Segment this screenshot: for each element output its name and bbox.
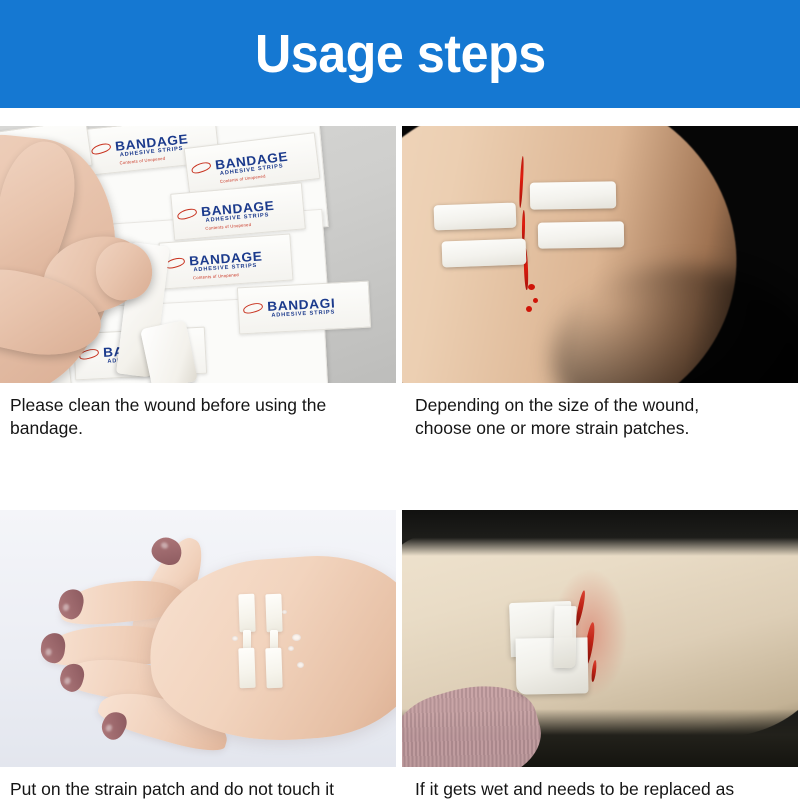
strain-patch-upper-right xyxy=(530,181,616,209)
water-droplet xyxy=(232,636,238,641)
blood-drop xyxy=(533,298,538,303)
step-1-photo: BANDAGE ADHESIVE STRIPS Contents of Unop… xyxy=(0,126,396,383)
bandage-strip: BANDAGE ADHESIVE STRIPS Contents of Unop… xyxy=(159,233,294,289)
strain-patch-top-left xyxy=(238,593,255,632)
water-droplet xyxy=(292,634,301,641)
page-title: Usage steps xyxy=(255,27,546,81)
package-mark-icon xyxy=(90,137,114,161)
strain-patch-upper xyxy=(434,203,517,231)
package-fine-print: Contents of Unopened xyxy=(193,272,239,280)
step-4-caption: If it gets wet and needs to be replaced … xyxy=(402,778,800,800)
strain-patch-bridge-right xyxy=(270,630,278,650)
step-4-photo xyxy=(402,510,798,767)
blood-drop xyxy=(526,306,532,312)
package-mark-icon xyxy=(242,297,265,320)
steps-grid: BANDAGE ADHESIVE STRIPS Contents of Unop… xyxy=(0,126,800,800)
steps-row-2: Put on the strain patch and do not touch… xyxy=(0,510,800,800)
strain-patch-top-right xyxy=(265,593,282,632)
strain-patch-lower-right xyxy=(538,221,624,248)
strain-patch-lower xyxy=(442,239,527,268)
step-card-2: Depending on the size of the wound, choo… xyxy=(402,126,800,441)
step-2-caption: Depending on the size of the wound, choo… xyxy=(402,394,800,441)
strain-patch-bottom-left xyxy=(238,647,255,688)
strain-patch-fold xyxy=(516,637,589,694)
package-mark-icon xyxy=(190,156,215,181)
step-3-photo xyxy=(0,510,396,767)
bandage-strip: BANDAGI ADHESIVE STRIPS xyxy=(237,281,371,335)
step-1-caption: Please clean the wound before using the … xyxy=(0,394,398,441)
step-card-3: Put on the strain patch and do not touch… xyxy=(0,510,398,800)
dark-background-top xyxy=(402,510,798,556)
step-card-4: If it gets wet and needs to be replaced … xyxy=(402,510,800,800)
package-mark-icon xyxy=(176,202,200,226)
step-card-1: BANDAGE ADHESIVE STRIPS Contents of Unop… xyxy=(0,126,398,441)
water-droplet xyxy=(282,610,287,614)
blood-drop xyxy=(528,284,535,290)
water-droplet xyxy=(297,662,304,668)
usage-steps-infographic: Usage steps BANDAGE AD xyxy=(0,0,800,800)
strain-patch-bridge-left xyxy=(243,630,251,650)
strain-patch-edge xyxy=(553,605,576,667)
step-3-caption: Put on the strain patch and do not touch… xyxy=(0,778,398,800)
strain-patch-bottom-right xyxy=(265,647,282,688)
header-banner: Usage steps xyxy=(0,0,800,108)
step-2-photo xyxy=(402,126,798,383)
steps-row-1: BANDAGE ADHESIVE STRIPS Contents of Unop… xyxy=(0,126,800,441)
water-droplet xyxy=(288,646,294,651)
